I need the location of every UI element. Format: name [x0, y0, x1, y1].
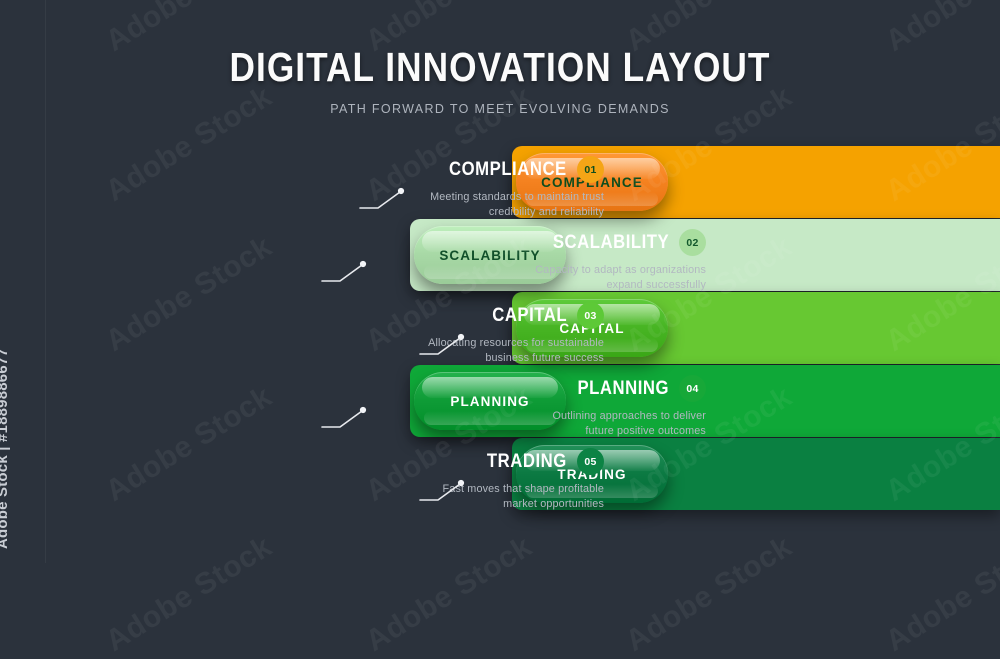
- trend-line-icon: [320, 405, 372, 436]
- trend-line-icon: [418, 332, 470, 363]
- watermark-text: Adobe Stock: [620, 530, 798, 659]
- entry-description: Capacity to adapt as organizations expan…: [346, 263, 706, 292]
- stock-id-strip: Adobe Stock | #1889886677: [0, 0, 46, 563]
- header: DIGITAL INNOVATION LAYOUT PATH FORWARD T…: [0, 0, 1000, 116]
- watermark-text: Adobe Stock: [100, 530, 278, 659]
- step-badge-02: 02: [679, 229, 706, 256]
- entry-scalability: SCALABILITY02Capacity to adapt as organi…: [346, 229, 706, 292]
- entry-header: SCALABILITY02: [346, 229, 706, 256]
- step-badge-04: 04: [679, 375, 706, 402]
- entry-title: CAPITAL: [492, 305, 567, 327]
- watermark-text: Adobe Stock: [360, 530, 538, 659]
- trend-line-icon: [418, 478, 470, 509]
- entry-title: TRADING: [487, 451, 567, 473]
- entry-compliance: COMPLIANCE01Meeting standards to maintai…: [244, 156, 604, 219]
- entry-planning: PLANNING04Outlining approaches to delive…: [346, 375, 706, 438]
- trend-line-icon: [358, 186, 410, 217]
- stock-id-label: Adobe Stock | #1889886677: [0, 348, 11, 549]
- entry-description: Meeting standards to maintain trust cred…: [244, 190, 604, 219]
- page-subtitle: PATH FORWARD TO MEET EVOLVING DEMANDS: [0, 102, 1000, 116]
- entry-header: COMPLIANCE01: [244, 156, 604, 183]
- entry-header: TRADING05: [244, 448, 604, 475]
- trend-line-icon: [320, 259, 372, 290]
- entry-title: PLANNING: [577, 378, 669, 400]
- step-badge-05: 05: [577, 448, 604, 475]
- entry-header: PLANNING04: [346, 375, 706, 402]
- entry-title: COMPLIANCE: [449, 159, 567, 181]
- entry-description: Outlining approaches to deliver future p…: [346, 409, 706, 438]
- step-badge-03: 03: [577, 302, 604, 329]
- page-title: DIGITAL INNOVATION LAYOUT: [70, 44, 930, 91]
- entry-header: CAPITAL03: [244, 302, 604, 329]
- watermark-text: Adobe Stock: [880, 530, 1000, 659]
- entry-title: SCALABILITY: [553, 232, 669, 254]
- step-badge-01: 01: [577, 156, 604, 183]
